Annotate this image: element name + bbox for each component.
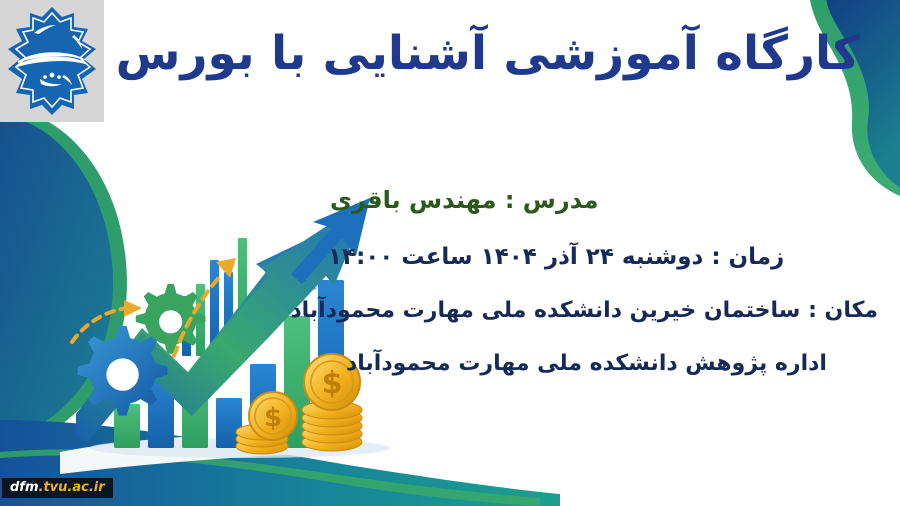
university-logo	[0, 0, 104, 122]
poster-title: کارگاه آموزشی آشنایی با بورس	[110, 6, 864, 102]
curved-arrow-icon	[72, 300, 142, 342]
place-line: مکان : ساختمان خیرین دانشکده ملی مهارت م…	[318, 298, 878, 323]
svg-text:$: $	[264, 403, 282, 433]
watermark-prefix: dfm	[10, 481, 39, 494]
watermark-suffix: .tvu.ac.ir	[39, 481, 105, 494]
organizer-line: اداره پژوهش دانشکده ملی مهارت محمودآباد	[318, 351, 878, 376]
event-details: مدرس : مهندس باقری زمان : دوشنبه ۲۴ آذر …	[318, 186, 878, 376]
instructor-line: مدرس : مهندس باقری	[318, 186, 878, 214]
poster-title-text: کارگاه آموزشی آشنایی با بورس	[110, 26, 864, 81]
poster-canvas: کارگاه آموزشی آشنایی با بورس	[0, 0, 900, 506]
time-line: زمان : دوشنبه ۲۴ آذر ۱۴۰۴ ساعت ۱۴:۰۰	[318, 244, 878, 270]
gear-icon	[78, 326, 168, 416]
university-emblem-icon	[4, 5, 100, 117]
site-watermark: dfm .tvu.ac.ir	[2, 478, 113, 498]
